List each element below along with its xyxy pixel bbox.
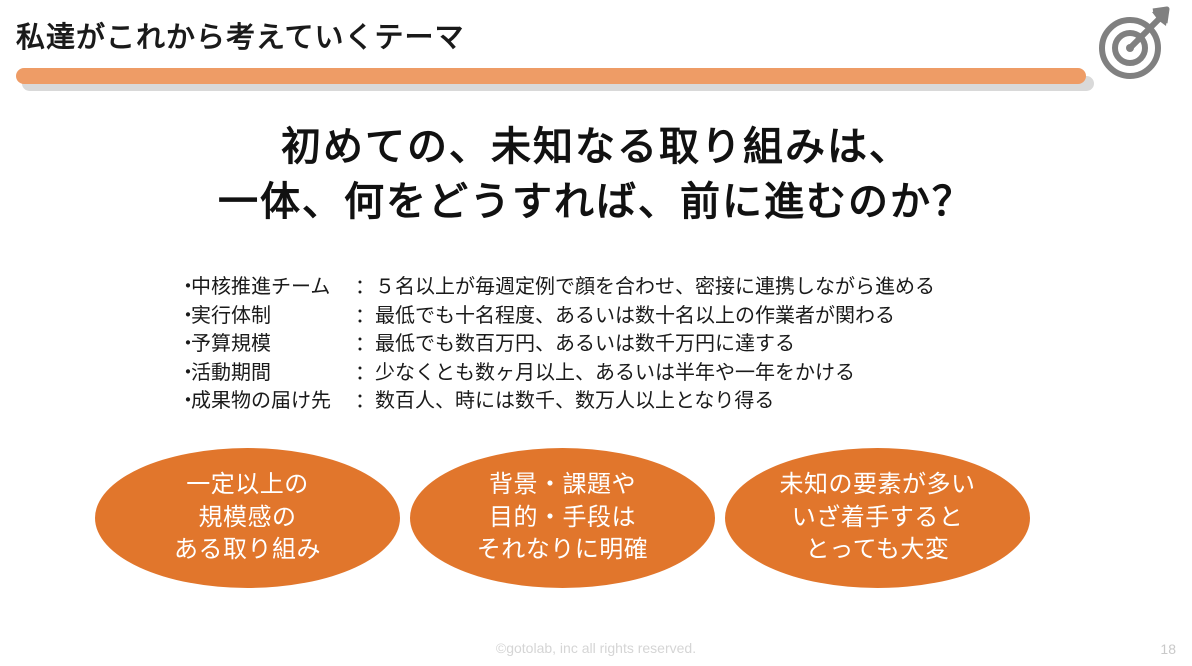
- ellipse-2-line-3: それなりに明確: [477, 534, 649, 567]
- spec-row: ・ 実行体制 ： 最低でも十名程度、あるいは数十名以上の作業者が関わる: [178, 302, 935, 331]
- bullet-marker: ・: [178, 330, 191, 359]
- spec-colon: ：: [355, 302, 375, 331]
- spec-row: ・ 成果物の届け先 ： 数百人、時には数千、数万人以上となり得る: [178, 387, 935, 416]
- ellipse-3-line-1: 未知の要素が多い: [780, 469, 976, 502]
- page-number: 18: [1160, 641, 1176, 657]
- spec-label: 実行体制: [191, 302, 355, 331]
- ellipse-2-line-2: 目的・手段は: [477, 502, 649, 535]
- spec-label: 活動期間: [191, 359, 355, 388]
- spec-value: ５名以上が毎週定例で顔を合わせ、密接に連携しながら進める: [375, 273, 935, 302]
- slide-title: 私達がこれから考えていくテーマ: [16, 14, 465, 56]
- bullet-marker: ・: [178, 302, 191, 331]
- bullet-marker: ・: [178, 359, 191, 388]
- spec-colon: ：: [355, 273, 375, 302]
- ellipse-1-line-2: 規模感の: [174, 502, 321, 535]
- bullet-marker: ・: [178, 387, 191, 416]
- bullet-marker: ・: [178, 273, 191, 302]
- spec-label: 中核推進チーム: [191, 273, 355, 302]
- spec-colon: ：: [355, 387, 375, 416]
- spec-value: 少なくとも数ヶ月以上、あるいは半年や一年をかける: [375, 359, 935, 388]
- spec-colon: ：: [355, 330, 375, 359]
- spec-label: 予算規模: [191, 330, 355, 359]
- ellipse-text-1: 一定以上の 規模感の ある取り組み: [174, 469, 321, 568]
- spec-list: ・ 中核推進チーム ： ５名以上が毎週定例で顔を合わせ、密接に連携しながら進める…: [178, 273, 935, 416]
- ellipse-text-2: 背景・課題や 目的・手段は それなりに明確: [477, 469, 649, 568]
- ellipse-shape-3: 未知の要素が多い いざ着手すると とっても大変: [725, 448, 1030, 588]
- slide-canvas: 私達がこれから考えていくテーマ 初めての、未知なる取り組みは、 一体、何をどうす…: [0, 0, 1192, 666]
- target-bullseye-icon: [1092, 4, 1176, 84]
- footer-copyright: ©gotolab, inc all rights reserved.: [0, 640, 1192, 656]
- main-heading-line-2: 一体、何をどうすれば、前に進むのか？: [0, 175, 1192, 230]
- spec-label: 成果物の届け先: [191, 387, 355, 416]
- main-heading: 初めての、未知なる取り組みは、 一体、何をどうすれば、前に進むのか？: [0, 120, 1192, 230]
- ellipse-shape-2: 背景・課題や 目的・手段は それなりに明確: [410, 448, 715, 588]
- ellipse-1-line-3: ある取り組み: [174, 534, 321, 567]
- spec-colon: ：: [355, 359, 375, 388]
- ellipse-2-line-1: 背景・課題や: [477, 469, 649, 502]
- main-heading-line-1: 初めての、未知なる取り組みは、: [0, 120, 1192, 175]
- spec-value: 最低でも十名程度、あるいは数十名以上の作業者が関わる: [375, 302, 935, 331]
- ellipse-3-line-3: とっても大変: [780, 534, 976, 567]
- spec-value: 数百人、時には数千、数万人以上となり得る: [375, 387, 935, 416]
- spec-row: ・ 中核推進チーム ： ５名以上が毎週定例で顔を合わせ、密接に連携しながら進める: [178, 273, 935, 302]
- ellipse-shape-1: 一定以上の 規模感の ある取り組み: [95, 448, 400, 588]
- spec-row: ・ 予算規模 ： 最低でも数百万円、あるいは数千万円に達する: [178, 330, 935, 359]
- spec-row: ・ 活動期間 ： 少なくとも数ヶ月以上、あるいは半年や一年をかける: [178, 359, 935, 388]
- title-underline-bar: [16, 68, 1086, 84]
- spec-value: 最低でも数百万円、あるいは数千万円に達する: [375, 330, 935, 359]
- ellipse-1-line-1: 一定以上の: [174, 469, 321, 502]
- ellipse-3-line-2: いざ着手すると: [780, 502, 976, 535]
- ellipse-text-3: 未知の要素が多い いざ着手すると とっても大変: [780, 469, 976, 568]
